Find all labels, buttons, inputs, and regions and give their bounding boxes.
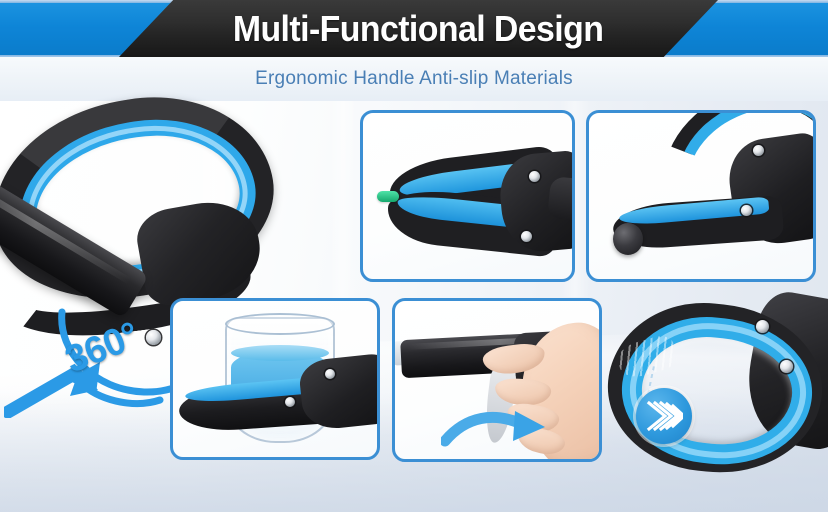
panel-trigger-handle-scene xyxy=(395,301,599,459)
page-title: Multi-Functional Design xyxy=(233,8,604,50)
hinge-rivet xyxy=(753,145,764,156)
hinge-rivet xyxy=(780,360,793,373)
hinge-rivet xyxy=(325,369,335,379)
jaw-hinge-body xyxy=(298,352,380,431)
hinge-rivet xyxy=(741,205,752,216)
page-subtitle: Ergonomic Handle Anti-slip Materials xyxy=(255,68,573,90)
secondary-product-grabber xyxy=(600,296,828,512)
panel-magnet-tip[interactable] xyxy=(586,110,816,282)
magnet-disc xyxy=(613,223,643,255)
chevron-ridges-icon xyxy=(645,399,683,433)
hinge-rivet xyxy=(521,231,532,242)
header-dark-plate: Multi-Functional Design xyxy=(118,0,718,58)
green-capsule xyxy=(377,191,399,202)
subtitle-bar: Ergonomic Handle Anti-slip Materials xyxy=(0,57,828,101)
panel-trigger-handle[interactable] xyxy=(392,298,602,462)
hinge-rivet xyxy=(285,397,295,407)
hinge-rivet xyxy=(529,171,540,182)
panel-glass-grip-scene xyxy=(173,301,377,457)
hinge-rivet xyxy=(756,320,769,333)
panel-precision-grip[interactable] xyxy=(360,110,575,282)
panel-glass-grip[interactable] xyxy=(170,298,380,460)
product-feature-image: Multi-Functional Design Ergonomic Handle… xyxy=(0,0,828,512)
squeeze-arrow-icon xyxy=(441,407,553,449)
glass-rim xyxy=(225,313,335,335)
panel-precision-grip-scene xyxy=(363,113,572,279)
panel-magnet-tip-scene xyxy=(589,113,813,279)
water-surface xyxy=(231,345,329,361)
anti-slip-texture-badge xyxy=(636,388,692,444)
header-banner: Multi-Functional Design xyxy=(0,0,828,58)
